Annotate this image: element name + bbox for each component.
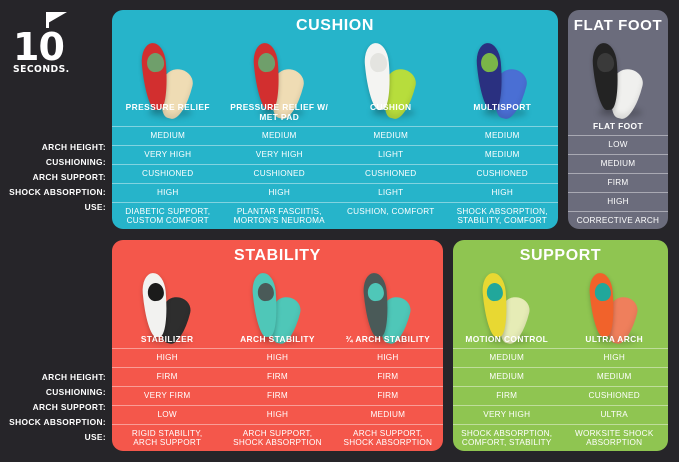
panel-cushion: CUSHION PRESSURE RELIEFPRESSURE RELIEF W… — [112, 10, 558, 229]
product-name: STABILIZER — [112, 330, 222, 348]
cell-cushioning: LIGHT — [335, 146, 447, 164]
table-row: HIGH — [568, 192, 668, 211]
row-label-bottom-3: SHOCK ABSORPTION: — [0, 415, 106, 430]
cell-arch_support: CUSHIONED — [561, 387, 669, 405]
cell-shock_absorption: LIGHT — [335, 184, 447, 202]
product-name: PRESSURE RELIEF — [112, 98, 224, 126]
table-header-row: PRESSURE RELIEFPRESSURE RELIEF W/ MET PA… — [112, 98, 558, 126]
cell-shock_absorption: HIGH — [447, 184, 559, 202]
table-header-row: FLAT FOOT — [568, 117, 668, 135]
row-label-top-2: ARCH SUPPORT: — [0, 170, 106, 185]
cell-arch_height: MEDIUM — [112, 127, 224, 145]
cell-cushioning: MEDIUM — [568, 155, 668, 173]
table-row: HIGHHIGHLIGHTHIGH — [112, 183, 558, 202]
cell-arch_support: VERY FIRM — [112, 387, 222, 405]
table-row: CUSHIONEDCUSHIONEDCUSHIONEDCUSHIONED — [112, 164, 558, 183]
table-row: CORRECTIVE ARCH — [568, 211, 668, 229]
table-row: MEDIUMHIGH — [453, 348, 668, 367]
cell-arch_height: HIGH — [222, 349, 332, 367]
cell-shock_absorption: HIGH — [224, 184, 336, 202]
panel-support-table: MOTION CONTROLULTRA ARCHMEDIUMHIGHMEDIUM… — [453, 330, 668, 451]
cell-shock_absorption: HIGH — [222, 406, 332, 424]
cell-use: RIGID STABILITY, ARCH SUPPORT — [112, 425, 222, 451]
table-row: VERY FIRMFIRMFIRM — [112, 386, 443, 405]
cell-shock_absorption: HIGH — [568, 193, 668, 211]
cell-arch_height: MEDIUM — [224, 127, 336, 145]
panel-cushion-title: CUSHION — [112, 10, 558, 35]
panel-stability-table: STABILIZERARCH STABILITY¾ ARCH STABILITY… — [112, 330, 443, 451]
cell-cushioning: FIRM — [333, 368, 443, 386]
cell-shock_absorption: VERY HIGH — [453, 406, 561, 424]
table-row: MEDIUMMEDIUM — [453, 367, 668, 386]
cell-use: SHOCK ABSORPTION, STABILITY, COMFORT — [447, 203, 559, 229]
cell-use: SHOCK ABSORPTION, COMFORT, STABILITY — [453, 425, 561, 451]
cell-cushioning: MEDIUM — [447, 146, 559, 164]
panel-stability: STABILITY STABILIZERARCH STABILITY¾ ARCH… — [112, 240, 443, 451]
cell-arch_support: FIRM — [453, 387, 561, 405]
product-name: ¾ ARCH STABILITY — [333, 330, 443, 348]
row-label-top-1: CUSHIONING: — [0, 155, 106, 170]
product-image — [568, 38, 668, 130]
row-labels-top: ARCH HEIGHT:CUSHIONING:ARCH SUPPORT:SHOC… — [0, 140, 106, 215]
table-row: FIRMCUSHIONED — [453, 386, 668, 405]
cell-cushioning: FIRM — [222, 368, 332, 386]
table-row: LOWHIGHMEDIUM — [112, 405, 443, 424]
table-row: FIRM — [568, 173, 668, 192]
row-labels-bottom: ARCH HEIGHT:CUSHIONING:ARCH SUPPORT:SHOC… — [0, 370, 106, 445]
cell-use: DIABETIC SUPPORT, CUSTOM COMFORT — [112, 203, 224, 229]
product-name: FLAT FOOT — [568, 117, 668, 135]
cell-use: CUSHION, COMFORT — [335, 203, 447, 229]
cell-arch_support: FIRM — [568, 174, 668, 192]
row-label-top-0: ARCH HEIGHT: — [0, 140, 106, 155]
table-row: FIRMFIRMFIRM — [112, 367, 443, 386]
cell-arch_support: CUSHIONED — [112, 165, 224, 183]
table-row: MEDIUM — [568, 154, 668, 173]
table-row: DIABETIC SUPPORT, CUSTOM COMFORTPLANTAR … — [112, 202, 558, 229]
cell-cushioning: MEDIUM — [561, 368, 669, 386]
cell-shock_absorption: MEDIUM — [333, 406, 443, 424]
cell-arch_height: MEDIUM — [335, 127, 447, 145]
product-name: ARCH STABILITY — [222, 330, 332, 348]
cell-use: PLANTAR FASCIITIS, MORTON'S NEUROMA — [224, 203, 336, 229]
cell-shock_absorption: LOW — [112, 406, 222, 424]
cell-arch_support: CUSHIONED — [447, 165, 559, 183]
panel-support-title: SUPPORT — [453, 240, 668, 265]
table-row: LOW — [568, 135, 668, 154]
cell-use: ARCH SUPPORT, SHOCK ABSORPTION — [333, 425, 443, 451]
row-label-top-3: SHOCK ABSORPTION: — [0, 185, 106, 200]
table-row: VERY HIGHVERY HIGHLIGHTMEDIUM — [112, 145, 558, 164]
cell-arch_height: HIGH — [561, 349, 669, 367]
panel-flatfoot-product-images — [568, 38, 668, 130]
cell-arch_height: HIGH — [112, 349, 222, 367]
panel-flatfoot: FLAT FOOT FLAT FOOTLOWMEDIUMFIRMHIGHCORR… — [568, 10, 668, 229]
panel-flatfoot-table: FLAT FOOTLOWMEDIUMFIRMHIGHCORRECTIVE ARC… — [568, 117, 668, 229]
table-row: SHOCK ABSORPTION, COMFORT, STABILITYWORK… — [453, 424, 668, 451]
panel-support: SUPPORT MOTION CONTROLULTRA ARCHMEDIUMHI… — [453, 240, 668, 451]
cell-arch_support: FIRM — [333, 387, 443, 405]
cell-arch_support: CUSHIONED — [224, 165, 336, 183]
panel-flatfoot-title: FLAT FOOT — [568, 10, 668, 35]
brand-logo: 10 SECONDS. — [10, 12, 86, 78]
brand-number: 10 — [13, 28, 64, 66]
infographic-root: 10 SECONDS. ARCH HEIGHT:CUSHIONING:ARCH … — [0, 0, 679, 462]
table-row: HIGHHIGHHIGH — [112, 348, 443, 367]
cell-use: CORRECTIVE ARCH — [568, 212, 668, 229]
product-name: ULTRA ARCH — [561, 330, 669, 348]
cell-cushioning: FIRM — [112, 368, 222, 386]
row-label-bottom-4: USE: — [0, 430, 106, 445]
cell-cushioning: MEDIUM — [453, 368, 561, 386]
cell-cushioning: VERY HIGH — [224, 146, 336, 164]
product-name: MOTION CONTROL — [453, 330, 561, 348]
table-header-row: MOTION CONTROLULTRA ARCH — [453, 330, 668, 348]
cell-arch_support: CUSHIONED — [335, 165, 447, 183]
product-name: MULTISPORT — [447, 98, 559, 126]
table-header-row: STABILIZERARCH STABILITY¾ ARCH STABILITY — [112, 330, 443, 348]
cell-shock_absorption: ULTRA — [561, 406, 669, 424]
cell-use: ARCH SUPPORT, SHOCK ABSORPTION — [222, 425, 332, 451]
row-label-top-4: USE: — [0, 200, 106, 215]
cell-arch_height: MEDIUM — [447, 127, 559, 145]
row-label-bottom-2: ARCH SUPPORT: — [0, 400, 106, 415]
cell-arch_height: LOW — [568, 136, 668, 154]
table-row: RIGID STABILITY, ARCH SUPPORTARCH SUPPOR… — [112, 424, 443, 451]
brand-wordmark: SECONDS. — [13, 64, 70, 75]
table-row: VERY HIGHULTRA — [453, 405, 668, 424]
cell-arch_support: FIRM — [222, 387, 332, 405]
cell-arch_height: HIGH — [333, 349, 443, 367]
row-label-bottom-0: ARCH HEIGHT: — [0, 370, 106, 385]
panel-stability-title: STABILITY — [112, 240, 443, 265]
cell-shock_absorption: HIGH — [112, 184, 224, 202]
product-name: PRESSURE RELIEF W/ MET PAD — [224, 98, 336, 126]
cell-arch_height: MEDIUM — [453, 349, 561, 367]
cell-use: WORKSITE SHOCK ABSORPTION — [561, 425, 669, 451]
cell-cushioning: VERY HIGH — [112, 146, 224, 164]
row-label-bottom-1: CUSHIONING: — [0, 385, 106, 400]
product-name: CUSHION — [335, 98, 447, 126]
panel-cushion-table: PRESSURE RELIEFPRESSURE RELIEF W/ MET PA… — [112, 98, 558, 229]
table-row: MEDIUMMEDIUMMEDIUMMEDIUM — [112, 126, 558, 145]
